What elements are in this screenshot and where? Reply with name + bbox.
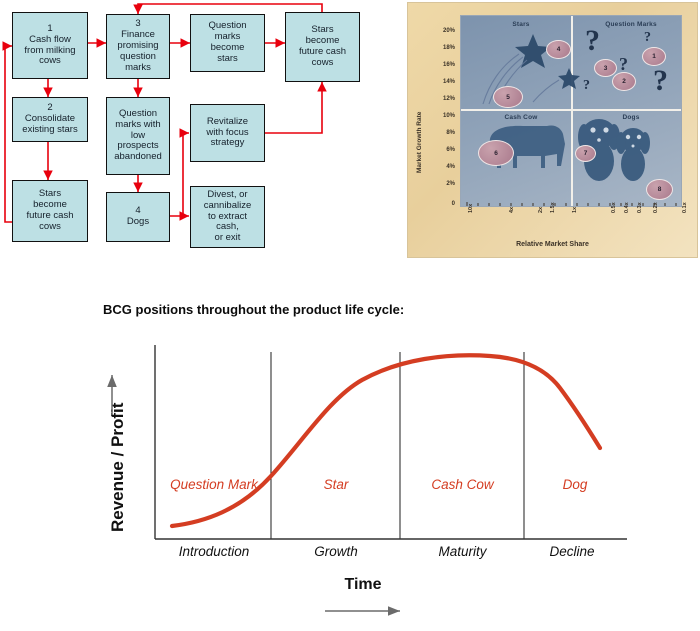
bcg-x-tick: 0.4x xyxy=(624,202,630,213)
bcg-bubble-8: 8 xyxy=(646,179,673,200)
bcg-x-tick: 0.1x xyxy=(682,202,688,213)
flow-box-question-marks-low-prospects: Question marks with low prospects abando… xyxy=(106,97,170,175)
bcg-x-tick: 4x xyxy=(509,207,515,213)
bcg-y-tick: 0 xyxy=(425,201,455,207)
bcg-x-tick: 0.2x xyxy=(653,202,659,213)
bcg-matrix-image: Market Growth Rate 20% 18% 16% 14% 12% 1… xyxy=(407,2,698,258)
flow-box-label: Revitalize with focus strategy xyxy=(204,117,250,150)
bcg-bubble-1: 1 xyxy=(642,47,666,66)
bcg-y-tick: 20% xyxy=(425,28,455,34)
bcg-x-tick: 1.5x xyxy=(550,202,556,213)
bcg-y-tick: 8% xyxy=(425,130,455,136)
flow-box-question-marks-become-stars: Question marks become stars xyxy=(190,14,265,72)
bcg-bubble-label: 4 xyxy=(557,46,561,53)
question-mark-glyph: ? xyxy=(583,78,590,94)
bcg-bubble-label: 1 xyxy=(652,53,656,60)
flow-box-label: Question marks become stars xyxy=(206,21,248,65)
bcg-y-tick: 16% xyxy=(425,62,455,68)
bcg-bubble-label: 5 xyxy=(506,94,510,101)
bcg-y-tick: 2% xyxy=(425,181,455,187)
bcg-x-tick: 1x xyxy=(572,207,578,213)
flow-box-label: 2 Consolidate existing stars xyxy=(20,103,79,136)
bcg-y-tick: 12% xyxy=(425,96,455,102)
flow-box-label: Divest, or cannibalize to extract cash, … xyxy=(202,190,254,245)
bcg-plot-area: Stars Question Marks Cash Cow Dogs xyxy=(460,15,682,207)
bcg-x-tick: 0.5x xyxy=(611,202,617,213)
bcg-bubble-7: 7 xyxy=(575,145,596,162)
flow-box-label: 4 Dogs xyxy=(125,206,151,228)
stage-label-dog: Dog xyxy=(525,477,625,492)
bcg-y-tick: 18% xyxy=(425,45,455,51)
flow-box-finance-promising-question-marks: 3 Finance promising question marks xyxy=(106,14,170,79)
flow-box-label: Stars become future cash cows xyxy=(25,189,76,233)
bcg-y-tick: 10% xyxy=(425,113,455,119)
bcg-y-tick: 6% xyxy=(425,147,455,153)
bcg-x-tick: 0.3x xyxy=(637,202,643,213)
stage-label-cash-cow: Cash Cow xyxy=(401,477,524,492)
bcg-bubble-5: 5 xyxy=(493,86,523,108)
stage-label-question-mark: Question Mark xyxy=(158,477,270,492)
flow-box-dogs: 4 Dogs xyxy=(106,192,170,242)
lifecycle-curve xyxy=(172,355,600,526)
phase-label-decline: Decline xyxy=(520,544,624,559)
bcg-bubble-2: 2 xyxy=(612,72,636,91)
phase-label-introduction: Introduction xyxy=(155,544,273,559)
flow-box-label: Stars become future cash cows xyxy=(297,25,348,69)
phase-label-maturity: Maturity xyxy=(401,544,524,559)
bcg-bubble-3: 3 xyxy=(594,59,617,77)
question-mark-glyph: ? xyxy=(644,30,651,46)
flow-box-stars-become-future-cash-cows-left: Stars become future cash cows xyxy=(12,180,88,242)
bcg-x-tick: 2x xyxy=(538,207,544,213)
bcg-bubble-label: 8 xyxy=(658,186,662,193)
bcg-bubble-6: 6 xyxy=(478,140,514,166)
stage-label-star: Star xyxy=(272,477,400,492)
flow-box-divest-or-cannibalize: Divest, or cannibalize to extract cash, … xyxy=(190,186,265,248)
bcg-bubble-label: 7 xyxy=(584,150,588,157)
bcg-x-axis-label: Relative Market Share xyxy=(408,241,697,248)
flow-box-cash-flow-milking-cows: 1 Cash flow from milking cows xyxy=(12,12,88,79)
flow-box-label: 1 Cash flow from milking cows xyxy=(22,24,77,68)
flow-box-revitalize-with-focus-strategy: Revitalize with focus strategy xyxy=(190,104,265,162)
question-mark-glyph: ? xyxy=(653,64,668,98)
bcg-bubble-4: 4 xyxy=(546,40,571,59)
question-mark-glyph: ? xyxy=(585,24,600,58)
flow-box-label: Question marks with low prospects abando… xyxy=(112,109,164,164)
bcg-y-tick: 14% xyxy=(425,79,455,85)
bcg-y-tick: 4% xyxy=(425,164,455,170)
flow-box-label: 3 Finance promising question marks xyxy=(115,19,160,74)
lifecycle-x-axis-label: Time xyxy=(315,576,411,594)
bcg-strategy-flowchart: 1 Cash flow from milking cows 2 Consolid… xyxy=(0,0,400,268)
phase-label-growth: Growth xyxy=(272,544,400,559)
bcg-y-axis-label: Market Growth Rate xyxy=(416,112,423,173)
bcg-bubble-label: 3 xyxy=(604,65,608,72)
bcg-bubble-label: 2 xyxy=(622,78,626,85)
bcg-bubble-label: 6 xyxy=(494,150,498,157)
flow-box-consolidate-existing-stars: 2 Consolidate existing stars xyxy=(12,97,88,142)
bcg-x-tick: 10x xyxy=(468,204,474,213)
product-life-cycle-chart: BCG positions throughout the product lif… xyxy=(0,270,700,631)
flow-box-stars-become-future-cash-cows-right: Stars become future cash cows xyxy=(285,12,360,82)
